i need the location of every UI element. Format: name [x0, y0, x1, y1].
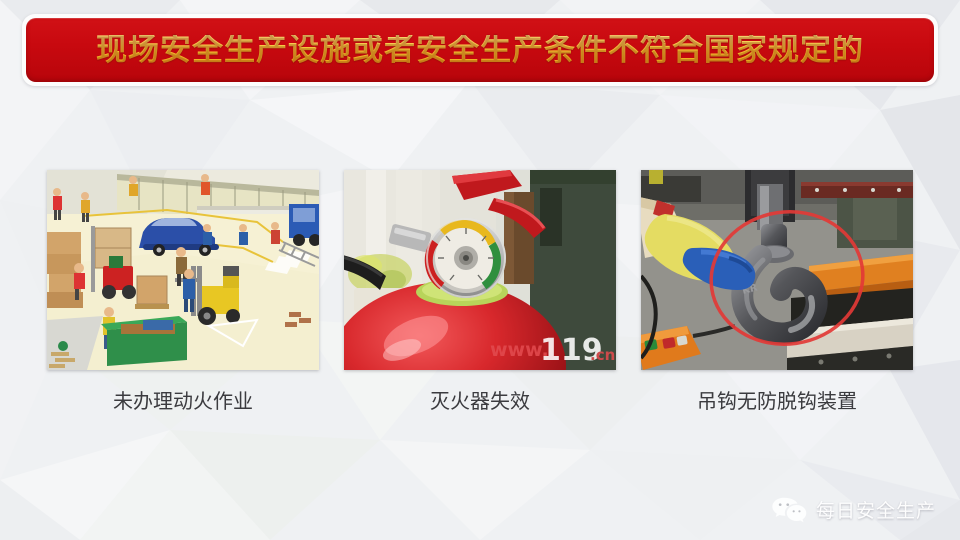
- caption-fire-extinguisher: 灭火器失效: [344, 386, 616, 416]
- watermark: 每日安全生产: [771, 494, 936, 524]
- title-banner: 现场安全生产设施或者安全生产条件不符合国家规定的: [26, 18, 934, 82]
- caption-crane-hook: 吊钩无防脱钩装置: [641, 386, 913, 416]
- fire-extinguisher-gauge-photo: www. 119 .cn: [344, 170, 616, 370]
- watermark-label: 每日安全生产: [816, 496, 936, 523]
- page-title: 现场安全生产设施或者安全生产条件不符合国家规定的: [96, 35, 864, 66]
- caption-row: 未办理动火作业 灭火器失效 吊钩无防脱钩装置: [47, 386, 913, 418]
- caption-warehouse: 未办理动火作业: [47, 386, 319, 416]
- slide-root: 现场安全生产设施或者安全生产条件不符合国家规定的: [0, 0, 960, 540]
- svg-text:.cn: .cn: [590, 346, 615, 364]
- warehouse-safety-illustration: [47, 170, 319, 370]
- wechat-icon: [771, 494, 807, 524]
- crane-hook-photo: KR: [641, 170, 913, 370]
- photo-row: www. 119 .cn: [47, 170, 913, 370]
- title-banner-frame: 现场安全生产设施或者安全生产条件不符合国家规定的: [22, 14, 938, 86]
